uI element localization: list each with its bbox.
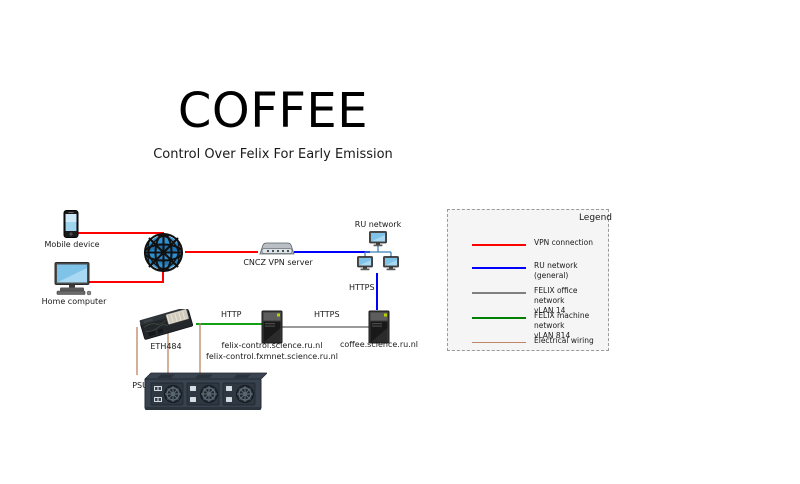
legend-item-machine-network: FELIX machine network vLAN 814 xyxy=(448,311,608,331)
page-subtitle: Control Over Felix For Early Emission xyxy=(0,147,546,162)
server-tower-icon xyxy=(368,310,390,344)
legend-box: Legend VPN connection RU network (genera… xyxy=(447,209,609,351)
edge-label-http: HTTP xyxy=(221,310,241,319)
legend-swatch-vpn xyxy=(472,244,526,246)
edge-label-https-right: HTTPS xyxy=(349,283,375,292)
node-vpn-server[interactable] xyxy=(256,240,298,260)
title-block: COFFEE Control Over Felix For Early Emis… xyxy=(0,86,546,162)
node-mobile-device[interactable] xyxy=(62,210,80,242)
legend-label-electrical: Electrical wiring xyxy=(534,336,594,346)
node-home-computer[interactable] xyxy=(52,262,96,300)
desktop-computer-icon xyxy=(52,262,96,296)
legend-swatch-office-network xyxy=(472,292,526,294)
label-ru-network: RU network xyxy=(338,220,418,230)
label-home-computer: Home computer xyxy=(19,297,129,307)
legend-swatch-ru-network xyxy=(472,267,526,269)
diagram-canvas: COFFEE Control Over Felix For Early Emis… xyxy=(0,0,800,484)
label-coffee-server: coffee.science.ru.nl xyxy=(329,340,429,350)
legend-label-ru-network: RU network (general) xyxy=(534,261,578,281)
legend-swatch-electrical xyxy=(472,342,526,343)
legend-item-vpn: VPN connection xyxy=(448,238,608,258)
globe-internet-icon xyxy=(142,231,185,274)
smartphone-icon xyxy=(62,210,80,238)
legend-swatch-machine-network xyxy=(472,317,526,319)
label-vpn-server: CNCZ VPN server xyxy=(233,258,323,268)
legend-title: Legend xyxy=(579,213,612,223)
legend-item-ru-network: RU network (general) xyxy=(448,261,608,281)
node-psu[interactable] xyxy=(137,371,267,417)
label-eth484: ETH484 xyxy=(137,342,195,352)
legend-item-electrical: Electrical wiring xyxy=(448,336,608,356)
server-tower-icon xyxy=(261,310,283,344)
relay-board-icon xyxy=(136,309,198,343)
router-icon xyxy=(256,240,298,256)
legend-label-vpn: VPN connection xyxy=(534,238,593,248)
computer-cluster-icon xyxy=(357,231,399,275)
label-mobile-device: Mobile device xyxy=(22,240,122,250)
label-felix-control: felix-control.science.ru.nl felix-contro… xyxy=(196,340,348,362)
legend-item-office-network: FELIX office network vLAN 14 xyxy=(448,286,608,306)
power-supply-rack-icon xyxy=(137,371,267,413)
page-title: COFFEE xyxy=(0,86,546,136)
label-felix-control-text: felix-control.science.ru.nl felix-contro… xyxy=(206,341,338,361)
node-internet[interactable] xyxy=(142,231,185,278)
node-ru-network[interactable] xyxy=(357,231,399,279)
edge-label-https-mid: HTTPS xyxy=(314,310,340,319)
